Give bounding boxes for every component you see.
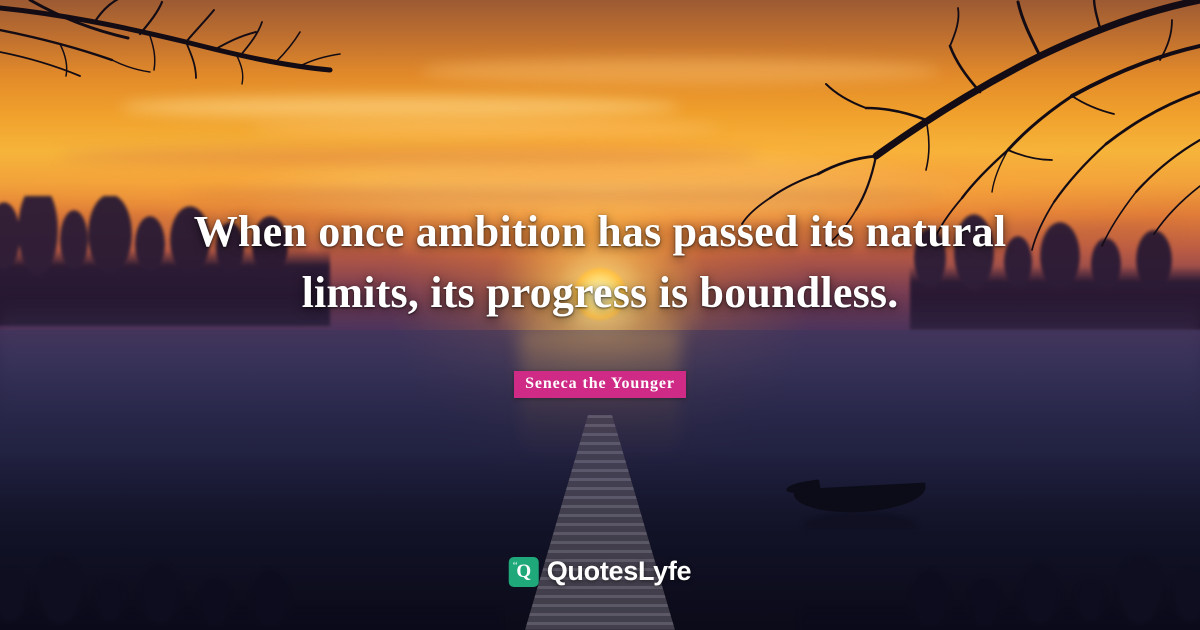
quote-author-container: Seneca the Younger: [0, 371, 1200, 398]
quote-author-badge: Seneca the Younger: [514, 371, 686, 398]
quote-line-2: limits, its progress is boundless.: [90, 263, 1110, 324]
boat-icon: [786, 476, 932, 520]
logo-letter: Q: [516, 562, 531, 581]
logo-wordmark: QuotesLyfe: [547, 556, 692, 587]
boat-reflection: [804, 512, 916, 528]
quote-image-canvas: When once ambition has passed its natura…: [0, 0, 1200, 630]
quote-block: When once ambition has passed its natura…: [0, 202, 1200, 323]
foreground-trees-right: [800, 526, 1200, 630]
quote-line-1: When once ambition has passed its natura…: [90, 202, 1110, 263]
quote-mark-glyph: “: [513, 561, 518, 572]
quoteslyfe-logo[interactable]: “ Q QuotesLyfe: [509, 556, 692, 587]
quoteslyfe-logo-mark-icon: “ Q: [509, 557, 539, 587]
foreground-trees-left: [0, 526, 500, 630]
